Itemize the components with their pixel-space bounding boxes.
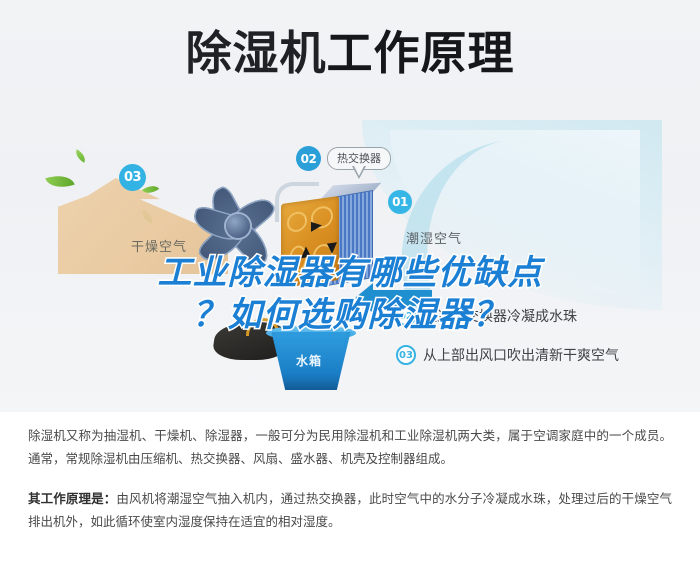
refrigerant-pipe [275, 182, 319, 222]
water-tank-label: 水箱 [296, 352, 322, 369]
hint-text-03: 从上部出风口吹出清新干爽空气 [423, 345, 619, 365]
badge-02: 02 [296, 146, 321, 171]
overlay-headline-line1: 工业除湿器有哪些优缺点 [0, 252, 700, 294]
flow-arrow-right-icon [311, 220, 322, 232]
paragraph-2: 其工作原理是：由风机将潮湿空气抽入机内，通过热交换器，此时空气中的水分子冷凝成水… [28, 487, 672, 533]
badge-03: 03 [119, 164, 146, 191]
badge-01: 01 [388, 190, 412, 214]
article-body: 除湿机又称为抽湿机、干燥机、除湿器，一般可分为民用除湿机和工业除湿机两大类，属于… [0, 418, 700, 566]
hint-badge-03: 03 [396, 345, 416, 365]
fan-hub [226, 214, 250, 238]
overlay-headline-line2: ？如何选购除湿器？ [0, 294, 700, 336]
hint-step-03: 03 从上部出风口吹出清新干爽空气 [396, 345, 619, 365]
callout-pointer [352, 166, 366, 179]
paragraph-1: 除湿机又称为抽湿机、干燥机、除湿器，一般可分为民用除湿机和工业除湿机两大类，属于… [28, 424, 672, 470]
leaf-icon [73, 149, 88, 162]
moist-air-label: 潮湿空气 [406, 228, 462, 247]
hero-title: 除湿机工作原理 [0, 26, 700, 80]
paragraph-2-lead: 其工作原理是： [28, 491, 116, 506]
infographic-hero: 除湿机工作原理 干燥空气 03 02 热交换器 01 [0, 0, 700, 412]
hero-title-part2: 工作原理 [327, 26, 515, 80]
overlay-headline: 工业除湿器有哪些优缺点 ？如何选购除湿器？ [0, 252, 700, 336]
hero-title-part1: 除湿机 [186, 26, 327, 80]
leaf-icon [45, 170, 74, 192]
paragraph-2-rest: 由风机将潮湿空气抽入机内，通过热交换器，此时空气中的水分子冷凝成水珠，处理过后的… [28, 491, 672, 529]
